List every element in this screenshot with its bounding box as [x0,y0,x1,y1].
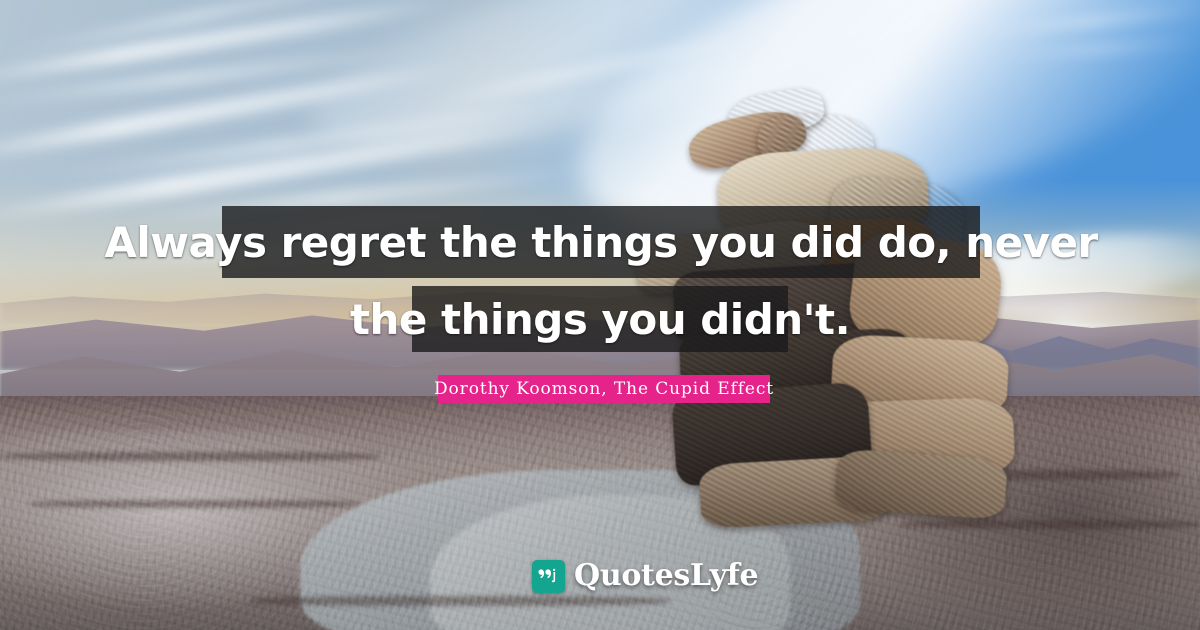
quote-line-1: Always regret the things you did do, nev… [222,206,980,278]
quoteslyfe-logo[interactable]: QuotesLyfe [532,557,758,595]
quote-card: Always regret the things you did do, nev… [0,0,1200,630]
author-attribution-badge: Dorothy Koomson, The Cupid Effect [438,375,770,403]
quote-mark-icon [532,560,565,593]
cairn-stone [834,448,1008,520]
logo-wordmark: QuotesLyfe [574,561,758,591]
quote-line-2: the things you didn't. [412,286,788,352]
